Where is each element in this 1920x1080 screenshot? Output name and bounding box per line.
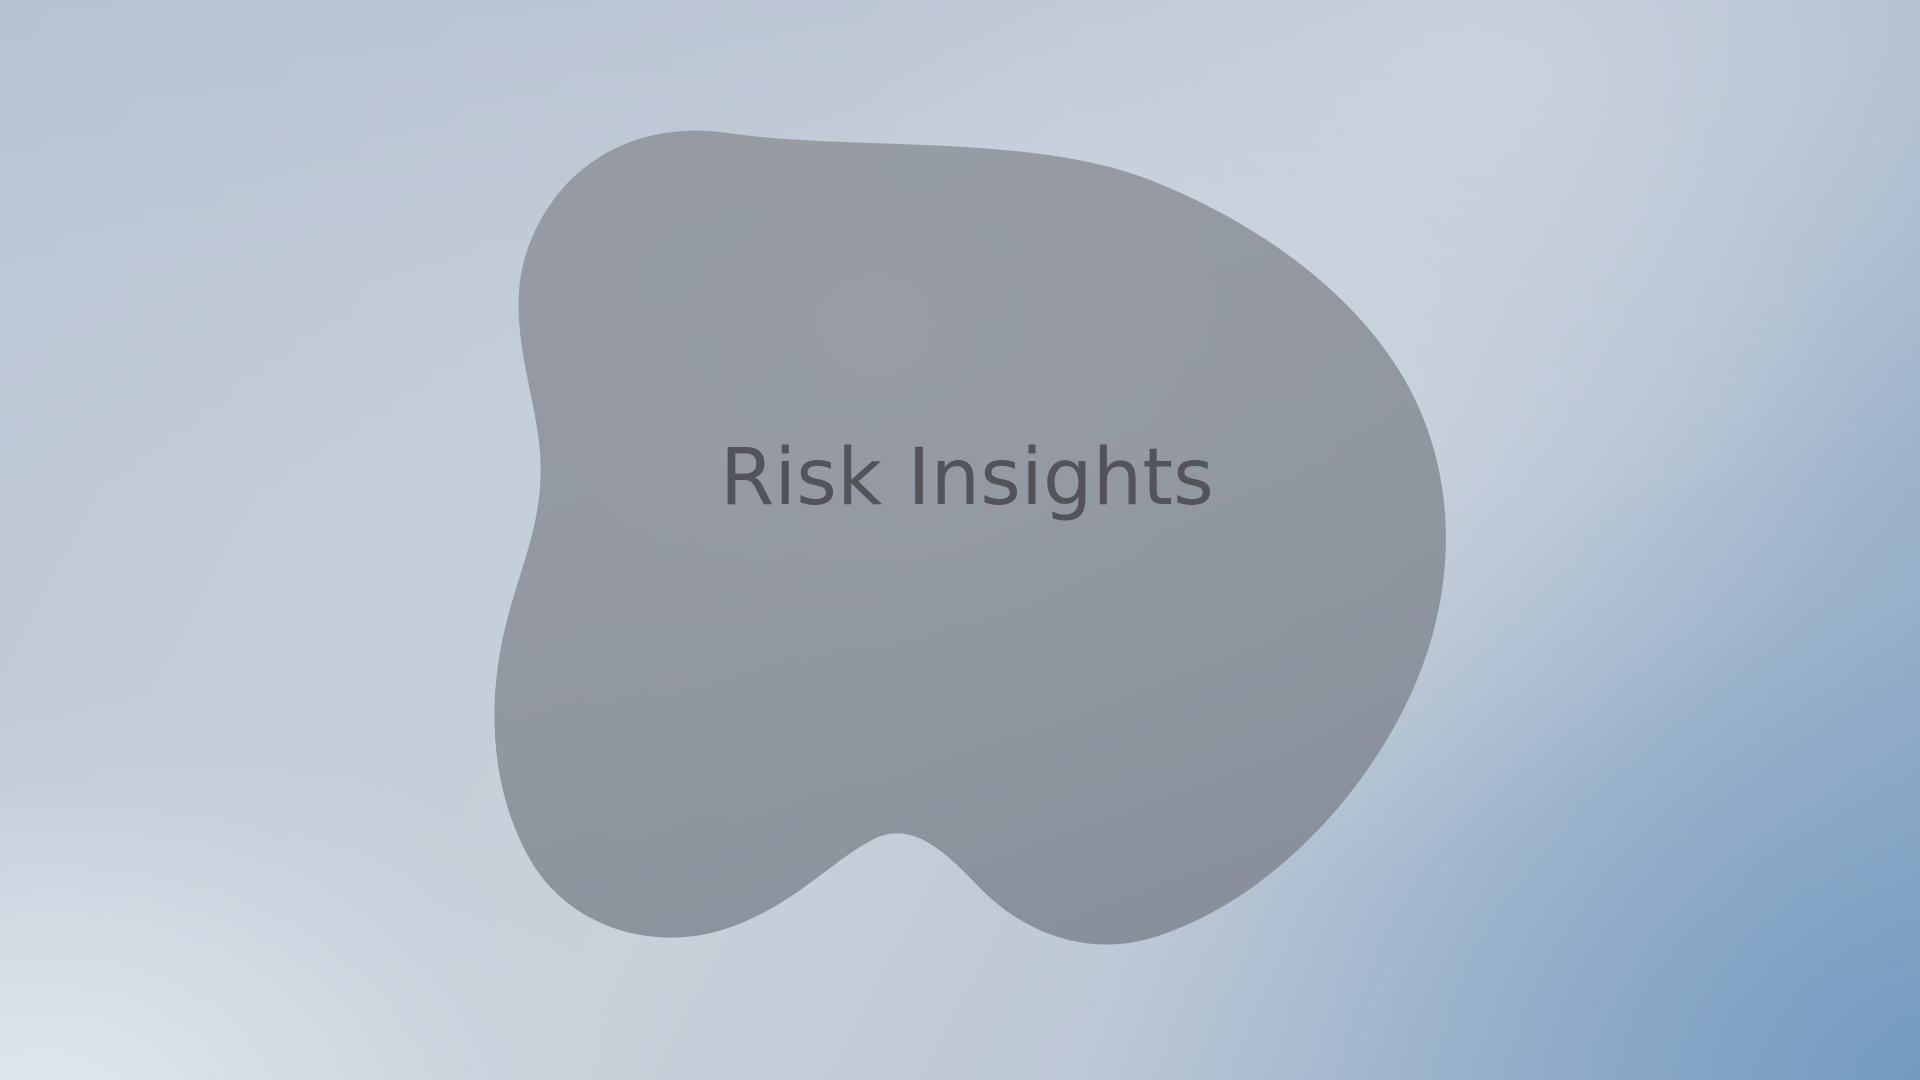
title-container: Risk Insights	[0, 0, 1920, 1080]
slide-canvas: Risk Insights	[0, 0, 1920, 1080]
page-title: Risk Insights	[720, 439, 1214, 517]
